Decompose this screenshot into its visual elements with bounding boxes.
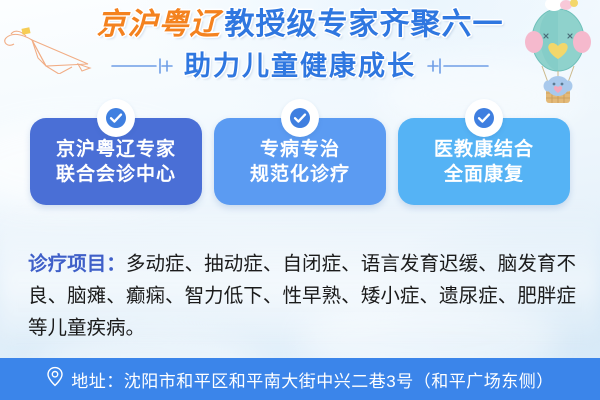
feature-card-line2: 全面康复 <box>444 162 524 187</box>
feature-card-1[interactable]: 京沪粤辽专家 联合会诊中心 <box>30 118 202 205</box>
main-title: 京沪粤辽教授级专家齐聚六一 <box>0 4 600 46</box>
poster-canvas: 京沪粤辽教授级专家齐聚六一 助力儿童健康成长 <box>0 0 600 400</box>
feature-card-line1: 京沪粤辽专家 <box>56 137 176 162</box>
ornament-left-icon <box>110 57 174 75</box>
feature-card-2[interactable]: 专病专治 规范化诊疗 <box>214 118 386 205</box>
title-rest: 教授级专家齐聚六一 <box>225 8 504 41</box>
check-circle-icon <box>465 99 503 137</box>
location-pin-icon <box>46 366 64 392</box>
title-highlight: 京沪粤辽 <box>97 7 225 42</box>
treatment-items-paragraph: 诊疗项目：多动症、抽动症、自闭症、语言发育迟缓、脑发育不良、脑瘫、癫痫、智力低下… <box>28 248 576 344</box>
check-circle-icon <box>281 99 319 137</box>
feature-card-line2: 规范化诊疗 <box>250 162 350 187</box>
subtitle-row: 助力儿童健康成长 <box>0 48 600 84</box>
feature-card-line1: 专病专治 <box>260 137 340 162</box>
feature-card-line1: 医教康结合 <box>434 137 534 162</box>
feature-card-list: 京沪粤辽专家 联合会诊中心 专病专治 规范化诊疗 医教康结合 全面康复 <box>30 118 570 205</box>
poster-header: 京沪粤辽教授级专家齐聚六一 助力儿童健康成长 <box>0 4 600 84</box>
treatment-items-label: 诊疗项目： <box>28 253 126 275</box>
subtitle-text: 助力儿童健康成长 <box>184 48 416 84</box>
ornament-right-icon <box>426 57 490 75</box>
feature-card-line2: 联合会诊中心 <box>56 162 176 187</box>
feature-card-3[interactable]: 医教康结合 全面康复 <box>398 118 570 205</box>
address-bar: 地址：沈阳市和平区和平南大街中兴二巷3号（和平广场东侧） <box>0 358 600 400</box>
address-text: 地址：沈阳市和平区和平南大街中兴二巷3号（和平广场东侧） <box>71 367 553 392</box>
check-circle-icon <box>97 99 135 137</box>
